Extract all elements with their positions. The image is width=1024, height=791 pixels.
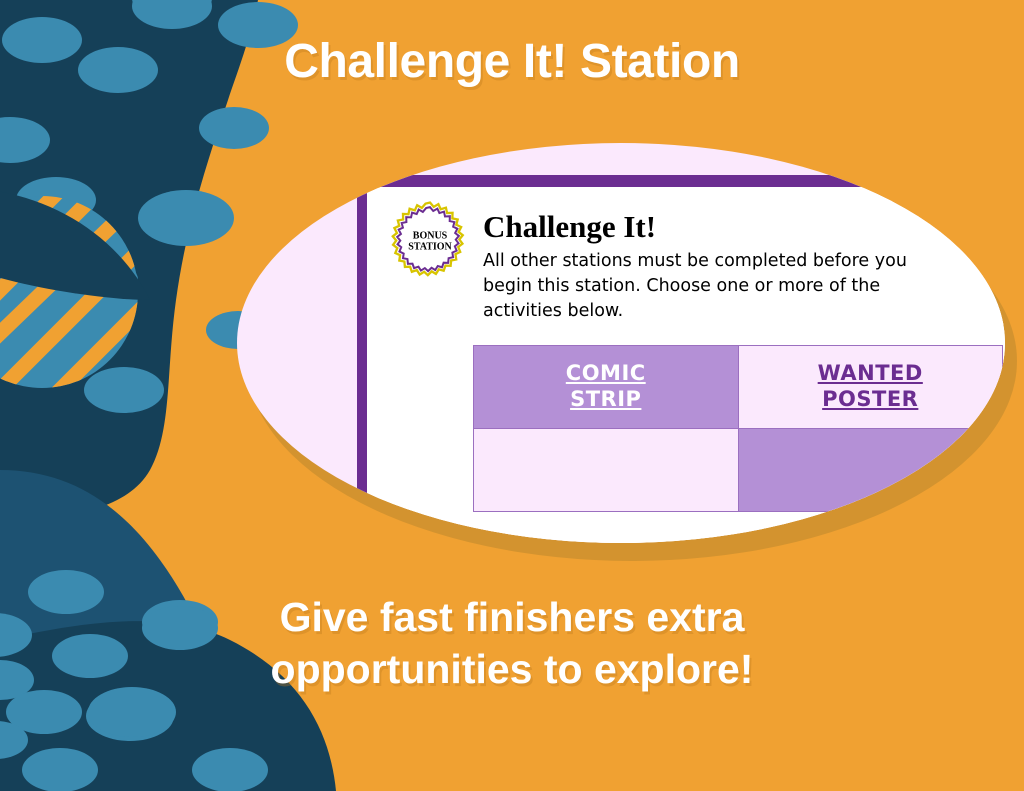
- slide-canvas: Challenge It! Station BONUS STATION: [0, 0, 1024, 791]
- activity-cell-comic-strip[interactable]: COMIC STRIP: [474, 346, 739, 429]
- worksheet-content: BONUS STATION KES SCIEN Challenge It! Al…: [367, 187, 1005, 543]
- kesler-science-watermark-icon: KES SCIEN: [975, 199, 1005, 241]
- badge-line-2: STATION: [408, 241, 452, 252]
- caption-line-1: Give fast finishers extra: [0, 592, 1024, 644]
- table-row: [474, 429, 1003, 512]
- caption-line-2: opportunities to explore!: [0, 644, 1024, 696]
- badge-line-1: BONUS: [413, 231, 448, 242]
- bonus-station-badge-icon: BONUS STATION: [391, 201, 469, 281]
- page-title: Challenge It! Station: [0, 34, 1024, 89]
- worksheet-page: BONUS STATION KES SCIEN Challenge It! Al…: [357, 175, 1005, 543]
- activities-table: COMIC STRIP WANTED POSTER: [473, 345, 1003, 512]
- instruction-line-2: begin this station. Choose one or more o…: [483, 274, 1003, 299]
- slide-caption: Give fast finishers extra opportunities …: [0, 592, 1024, 695]
- activity-cell-wanted-poster[interactable]: WANTED POSTER: [738, 346, 1003, 429]
- table-row: COMIC STRIP WANTED POSTER: [474, 346, 1003, 429]
- instruction-line-3: activities below.: [483, 299, 1003, 324]
- document-title: Challenge It!: [483, 209, 656, 245]
- comic-strip-link[interactable]: COMIC STRIP: [475, 361, 737, 412]
- card-oval-mask: BONUS STATION KES SCIEN Challenge It! Al…: [237, 143, 1005, 543]
- watermark-line-2: SCIEN: [980, 220, 1005, 235]
- comic-strip-line-1: COMIC: [475, 361, 737, 387]
- screenshot-card: BONUS STATION KES SCIEN Challenge It! Al…: [237, 143, 1024, 563]
- activity-cell-row2-right[interactable]: [738, 429, 1003, 512]
- comic-strip-line-2: STRIP: [475, 387, 737, 413]
- instruction-line-1: All other stations must be completed bef…: [483, 249, 1003, 274]
- wanted-poster-line-2: POSTER: [740, 387, 1002, 413]
- activity-cell-row2-left[interactable]: [474, 429, 739, 512]
- wanted-poster-line-1: WANTED: [740, 361, 1002, 387]
- document-instructions: All other stations must be completed bef…: [483, 249, 1003, 324]
- wanted-poster-link[interactable]: WANTED POSTER: [740, 361, 1002, 412]
